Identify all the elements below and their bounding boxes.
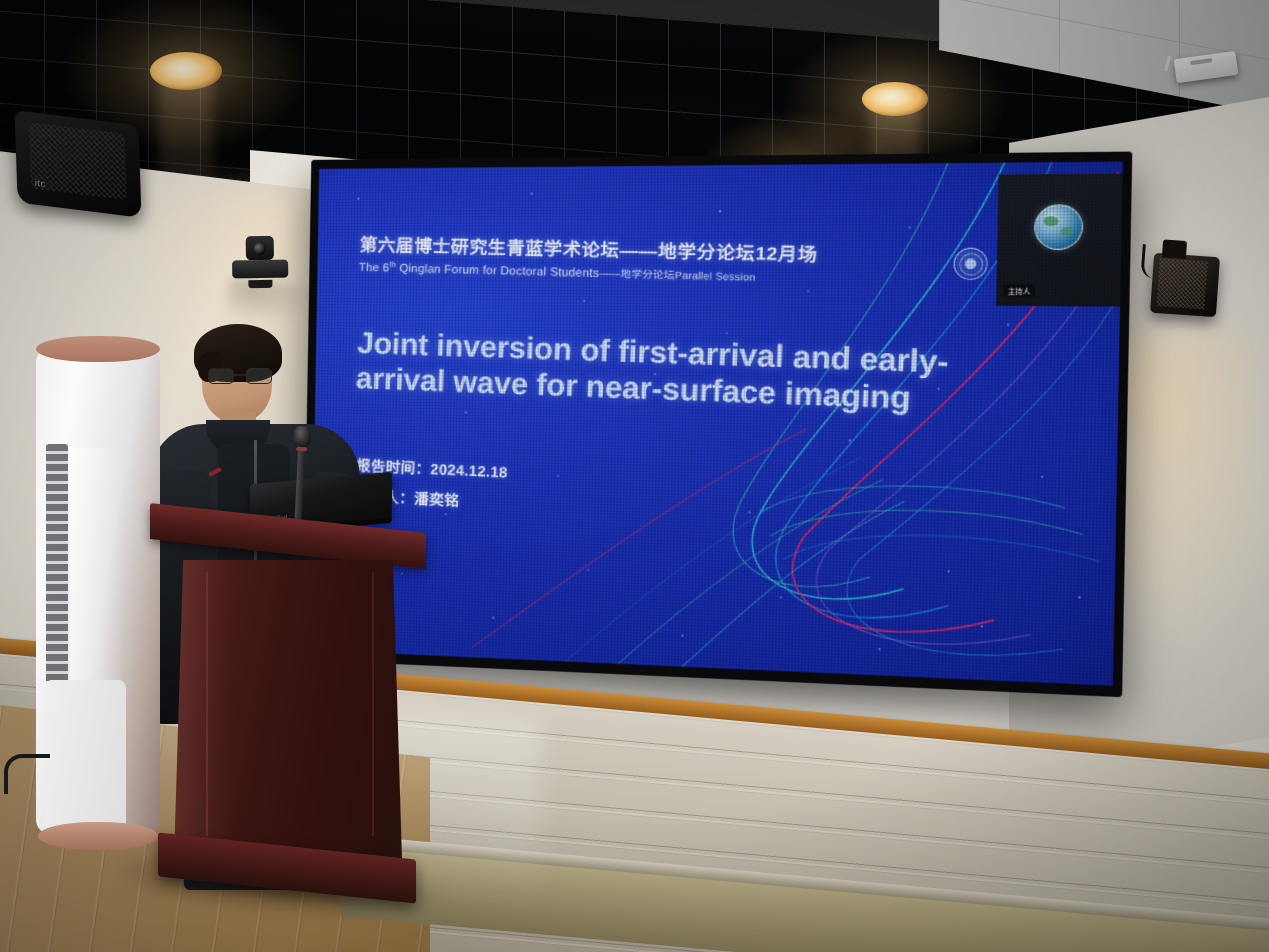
ptz-camera-icon — [232, 236, 289, 283]
wall-speaker-right — [1150, 253, 1220, 317]
speaker-podium — [150, 518, 426, 888]
participant-name-badge: 主持人 — [1003, 284, 1035, 297]
speaker-brand-label: itc — [35, 178, 46, 189]
spotlight-icon — [150, 52, 222, 90]
video-meeting-overlay[interactable]: 主持人 — [996, 173, 1123, 307]
globe-icon — [1034, 204, 1084, 250]
air-conditioner-unit — [36, 336, 160, 846]
lecture-hall-scene: itc — [0, 0, 1269, 952]
slide-canvas: 第六届博士研究生青蓝学术论坛——地学分论坛12月场 The 6th Qingla… — [311, 161, 1123, 685]
led-display-screen[interactable]: 第六届博士研究生青蓝学术论坛——地学分论坛12月场 The 6th Qingla… — [303, 152, 1133, 698]
screen-bezel: 第六届博士研究生青蓝学术论坛——地学分论坛12月场 The 6th Qingla… — [303, 152, 1133, 698]
participant-name-label: 主持人 — [1008, 285, 1031, 296]
podium-body — [174, 560, 402, 860]
eyeglasses-icon — [208, 368, 272, 384]
slide-header-en-prefix: The 6 — [358, 261, 389, 274]
spotlight-icon — [862, 82, 928, 116]
power-cable — [4, 754, 50, 794]
wall-speaker-itc: itc — [14, 110, 141, 218]
